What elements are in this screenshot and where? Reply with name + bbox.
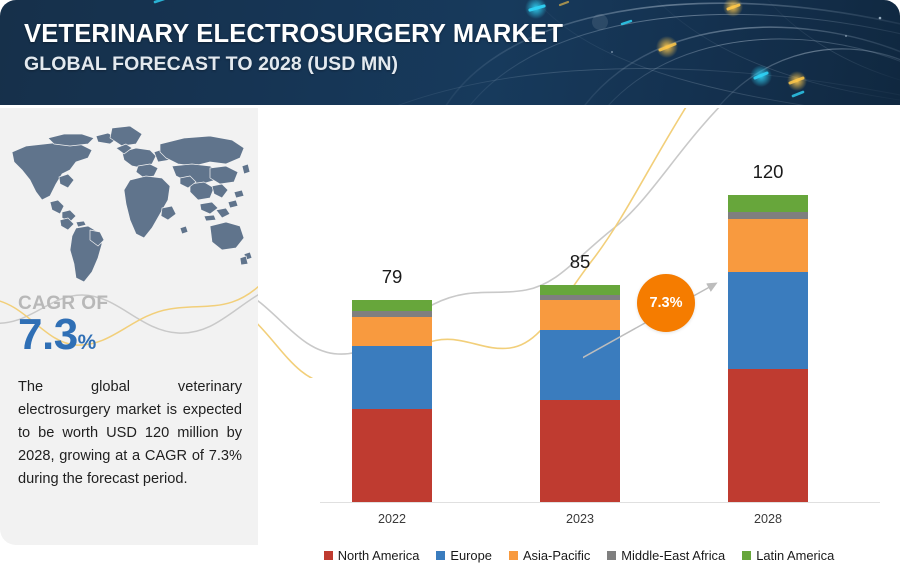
legend-swatch-icon	[742, 551, 751, 560]
bar-segment-asia-pacific-2022[interactable]	[352, 317, 432, 346]
bar-chart-plot: 79 2022 85 2023 120 2028 7.3%	[258, 108, 900, 508]
bar-2022[interactable]	[352, 300, 432, 502]
cagr-number: 7.3	[18, 310, 78, 359]
cagr-value: 7.3%	[18, 313, 108, 357]
left-summary-panel: CAGR OF 7.3% The global veterinary elect…	[0, 108, 258, 545]
x-axis-label-2023: 2023	[525, 512, 635, 526]
legend-swatch-icon	[607, 551, 616, 560]
chart-baseline	[320, 502, 880, 503]
bar-segment-latin-america-2022[interactable]	[352, 300, 432, 311]
bar-segment-middle-east-africa-2028[interactable]	[728, 212, 808, 219]
cagr-percent-sign: %	[78, 331, 96, 354]
chart-legend: North AmericaEuropeAsia-PacificMiddle-Ea…	[258, 548, 900, 563]
page-title: VETERINARY ELECTROSURGERY MARKET	[24, 21, 563, 48]
legend-label: Middle-East Africa	[621, 548, 725, 563]
legend-item-europe[interactable]: Europe	[436, 548, 492, 563]
cagr-block: CAGR OF 7.3%	[18, 293, 108, 357]
header-banner: VETERINARY ELECTROSURGERY MARKET GLOBAL …	[0, 0, 900, 105]
summary-description: The global veterinary electrosurgery mar…	[18, 376, 242, 491]
cagr-bubble[interactable]: 7.3%	[637, 274, 695, 332]
legend-swatch-icon	[436, 551, 445, 560]
legend-swatch-icon	[509, 551, 518, 560]
bar-segment-europe-2022[interactable]	[352, 346, 432, 409]
legend-swatch-icon	[324, 551, 333, 560]
bar-value-2022: 79	[337, 266, 447, 288]
legend-item-middle-east-africa[interactable]: Middle-East Africa	[607, 548, 725, 563]
bar-segment-north-america-2023[interactable]	[540, 400, 620, 502]
bar-segment-north-america-2022[interactable]	[352, 409, 432, 502]
legend-item-north-america[interactable]: North America	[324, 548, 420, 563]
x-axis-label-2028: 2028	[713, 512, 823, 526]
page-subtitle: GLOBAL FORECAST TO 2028 (USD MN)	[24, 54, 563, 74]
bar-segment-north-america-2028[interactable]	[728, 369, 808, 502]
legend-item-asia-pacific[interactable]: Asia-Pacific	[509, 548, 590, 563]
infographic-page: VETERINARY ELECTROSURGERY MARKET GLOBAL …	[0, 0, 900, 574]
x-axis-label-2022: 2022	[337, 512, 447, 526]
bar-segment-latin-america-2028[interactable]	[728, 195, 808, 212]
chart-area: 79 2022 85 2023 120 2028 7.3%	[258, 108, 900, 574]
legend-label: Latin America	[756, 548, 834, 563]
bar-value-2028: 120	[713, 161, 823, 183]
legend-label: North America	[338, 548, 420, 563]
legend-label: Asia-Pacific	[523, 548, 590, 563]
legend-label: Europe	[450, 548, 492, 563]
legend-item-latin-america[interactable]: Latin America	[742, 548, 834, 563]
header-text-block: VETERINARY ELECTROSURGERY MARKET GLOBAL …	[24, 21, 563, 74]
